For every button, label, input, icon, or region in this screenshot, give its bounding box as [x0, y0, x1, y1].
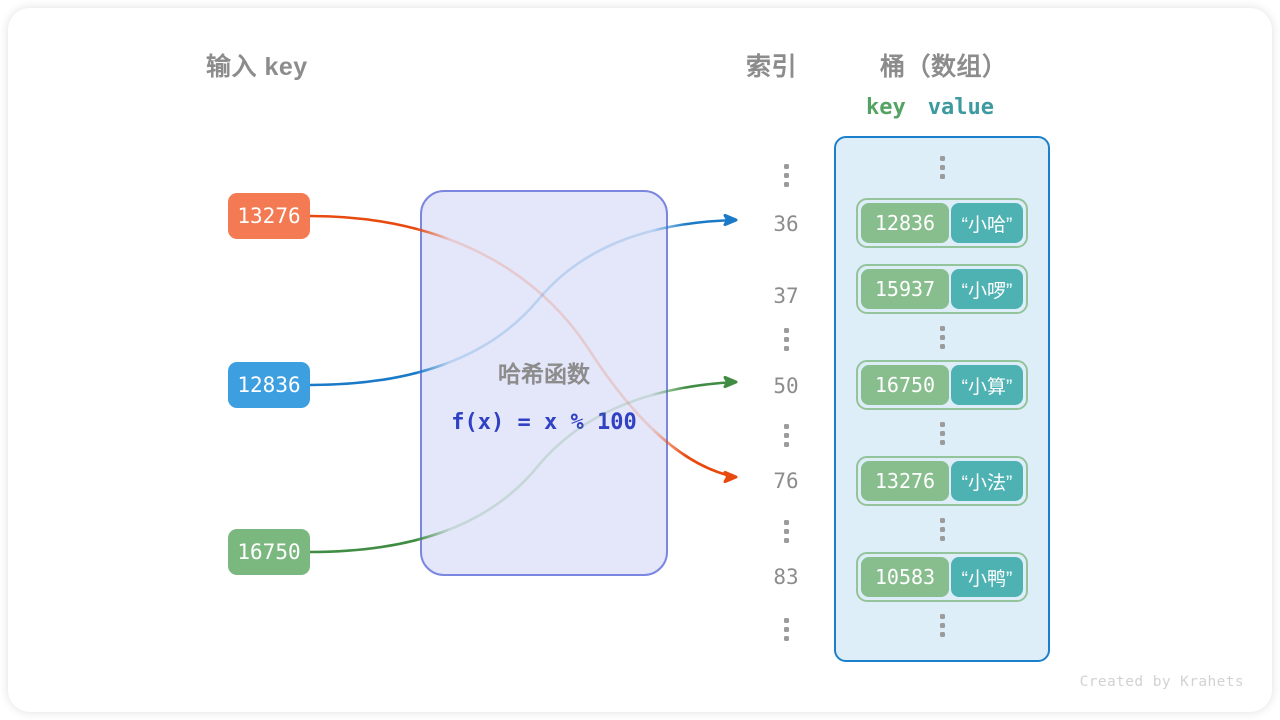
watermark-credit: Created by Krahets	[1080, 674, 1244, 690]
entry-value: “小啰”	[951, 269, 1023, 309]
input-key-16750[interactable]: 16750	[228, 529, 310, 575]
diagram-stage: 输入 key 索引 桶（数组） keyvalue 哈希函数 f(x) = x %…	[8, 8, 1272, 712]
entry-value: “小法”	[951, 461, 1023, 501]
bucket-ellipsis-3	[912, 518, 972, 541]
bucket-entry-12836[interactable]: 12836 “小哈”	[856, 198, 1028, 248]
entry-key: 15937	[861, 269, 949, 309]
bucket-entry-15937[interactable]: 15937 “小啰”	[856, 264, 1028, 314]
input-key-12836[interactable]: 12836	[228, 362, 310, 408]
index-ellipsis-4	[756, 618, 816, 641]
arrowhead-76	[725, 472, 736, 481]
entry-key: 16750	[861, 365, 949, 405]
entry-key: 12836	[861, 203, 949, 243]
bucket-entry-13276[interactable]: 13276 “小法”	[856, 456, 1028, 506]
index-value-76: 76	[756, 469, 816, 493]
arrowhead-36	[725, 215, 736, 224]
index-value-50: 50	[756, 374, 816, 398]
hash-function-box: 哈希函数 f(x) = x % 100	[420, 190, 668, 576]
header-bucket: 桶（数组）	[880, 47, 1008, 83]
arrowhead-50	[725, 377, 736, 386]
index-ellipsis-2	[756, 424, 816, 447]
entry-key: 13276	[861, 461, 949, 501]
bucket-ellipsis-4	[912, 614, 972, 637]
hash-function-title: 哈希函数	[422, 355, 666, 389]
index-value-36: 36	[756, 212, 816, 236]
bucket-ellipsis-2	[912, 422, 972, 445]
index-value-83: 83	[756, 565, 816, 589]
entry-value: “小哈”	[951, 203, 1023, 243]
index-ellipsis-3	[756, 520, 816, 543]
bucket-value-label: value	[928, 95, 994, 120]
diagram-card: 输入 key 索引 桶（数组） keyvalue 哈希函数 f(x) = x %…	[8, 8, 1272, 712]
entry-key: 10583	[861, 557, 949, 597]
bucket-column-labels: keyvalue	[866, 95, 994, 120]
bucket-ellipsis-1	[912, 326, 972, 349]
index-ellipsis-0	[756, 164, 816, 187]
bucket-entry-10583[interactable]: 10583 “小鸭”	[856, 552, 1028, 602]
input-key-13276[interactable]: 13276	[228, 193, 310, 239]
bucket-array: 12836 “小哈” 15937 “小啰” 16750 “小算” 13276 “…	[834, 136, 1050, 662]
entry-value: “小鸭”	[951, 557, 1023, 597]
index-value-37: 37	[756, 284, 816, 308]
header-index: 索引	[746, 47, 797, 83]
bucket-entry-16750[interactable]: 16750 “小算”	[856, 360, 1028, 410]
bucket-ellipsis-0	[912, 156, 972, 179]
entry-value: “小算”	[951, 365, 1023, 405]
hash-function-formula: f(x) = x % 100	[422, 410, 666, 435]
index-ellipsis-1	[756, 328, 816, 351]
header-input-key: 输入 key	[206, 47, 308, 83]
bucket-key-label: key	[866, 95, 906, 120]
